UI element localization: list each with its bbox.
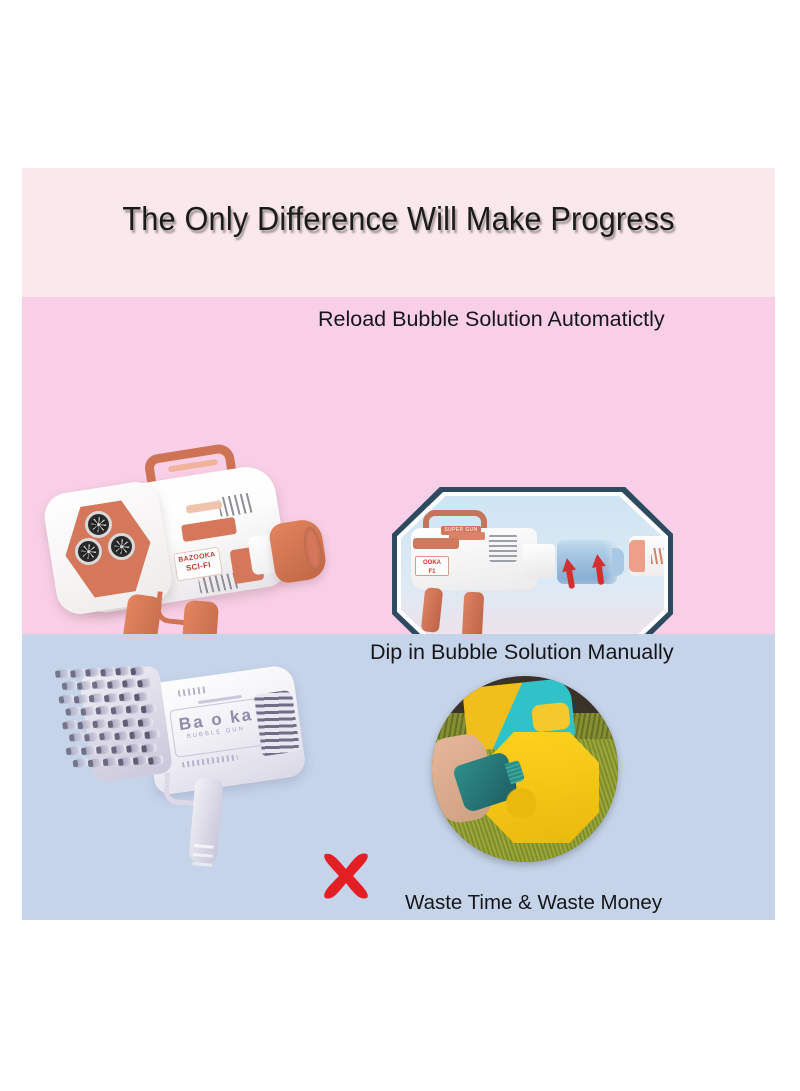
comparison-poster: The Only Difference Will Make Progress B… [22, 168, 775, 920]
nozzle-tube [98, 744, 112, 755]
nozzle-tube [135, 755, 149, 766]
cross-mark-icon [320, 852, 372, 900]
main-grip [188, 777, 223, 865]
nozzle-tube [97, 705, 111, 716]
nozzle-tube [109, 718, 123, 729]
nozzle-tube [143, 742, 157, 753]
nozzle-tube [74, 757, 88, 768]
nozzle-tube [112, 704, 126, 715]
page-title: The Only Difference Will Make Progress [48, 200, 748, 238]
nozzle-tube [109, 678, 123, 689]
nozzle-tube [121, 691, 135, 702]
manual-dip-photo [432, 676, 618, 862]
nozzle-tube [127, 703, 141, 714]
nozzle-tube [90, 693, 104, 704]
nozzle-tube [113, 743, 127, 754]
nozzle-tube [89, 757, 103, 768]
nozzle-tube [71, 732, 85, 743]
nozzle-tube [117, 666, 131, 677]
nozzle-tube [106, 692, 120, 703]
nozzle-tube [101, 730, 115, 741]
nozzle-tube [139, 716, 153, 727]
nozzle-tube [124, 678, 138, 689]
nozzle-tube [64, 719, 78, 730]
pouring-liquid [506, 788, 536, 818]
nozzle-tube [128, 743, 142, 754]
nozzle-ring [85, 511, 112, 538]
nozzle-tube [79, 680, 93, 691]
nozzle-tube [63, 680, 77, 691]
nozzle-tube [132, 665, 146, 676]
bad-caption: Waste Time & Waste Money [405, 891, 662, 915]
nozzle-tube [136, 691, 150, 702]
nozzle-tube [60, 694, 74, 705]
baoka-bubble-gun-image: Ba o ka BUBBLE GUN [52, 654, 342, 874]
nozzle-tube [150, 754, 164, 765]
nozzle-tube [146, 729, 160, 740]
nozzle-tube [57, 668, 71, 679]
nozzle-tube [139, 677, 153, 688]
nozzle-tube [67, 706, 81, 717]
reload-arrow-icon [560, 557, 576, 572]
inset-side-label: OOKAF1 [415, 556, 449, 576]
nozzle-tube [87, 667, 101, 678]
nozzle-tube [79, 719, 93, 730]
nozzle-tube [72, 667, 86, 678]
nozzle-tube-array [57, 655, 176, 780]
muzzle [268, 517, 329, 584]
nozzle-tube [116, 730, 130, 741]
nozzle-tube [102, 666, 116, 677]
nozzle-ring [75, 538, 102, 565]
inset-muzzle [629, 536, 664, 576]
brand-label-line2: SCI-FI [176, 560, 221, 575]
good-section-band: BAZOOKASCI-FI Reload Bubble Solution Aut… [22, 297, 775, 634]
inset-side-label-line2: F1 [416, 568, 448, 577]
nozzle-tube [142, 703, 156, 714]
nozzle-tube [86, 731, 100, 742]
inset-vent-grille [489, 534, 517, 562]
octagon-inner-border: SUPER GUN OOKAF1 [397, 492, 668, 656]
nozzle-tube [68, 745, 82, 756]
inset-fore-grip [421, 587, 444, 633]
title-band: The Only Difference Will Make Progress [22, 168, 775, 297]
nozzle-tube [104, 756, 118, 767]
nozzle-tube [94, 718, 108, 729]
bad-subhead: Dip in Bubble Solution Manually [370, 640, 674, 665]
good-subhead: Reload Bubble Solution Automatictly [318, 307, 665, 332]
nozzle-tube [82, 705, 96, 716]
nozzle-tube [94, 679, 108, 690]
inset-accent-stripe [413, 538, 459, 549]
nozzle-tube [124, 717, 138, 728]
bad-section-band: Ba o ka BUBBLE GUN Dip in Bubble Solutio… [22, 634, 775, 920]
nozzle-ring [108, 533, 135, 560]
nozzle-tube [131, 729, 145, 740]
nozzle-tube [75, 693, 89, 704]
nozzle-tube [120, 756, 134, 767]
reload-demo-photo: SUPER GUN OOKAF1 [401, 496, 664, 652]
inset-barrel [523, 544, 555, 578]
nozzle-tube [83, 745, 97, 756]
reload-arrow-icon [590, 553, 606, 568]
